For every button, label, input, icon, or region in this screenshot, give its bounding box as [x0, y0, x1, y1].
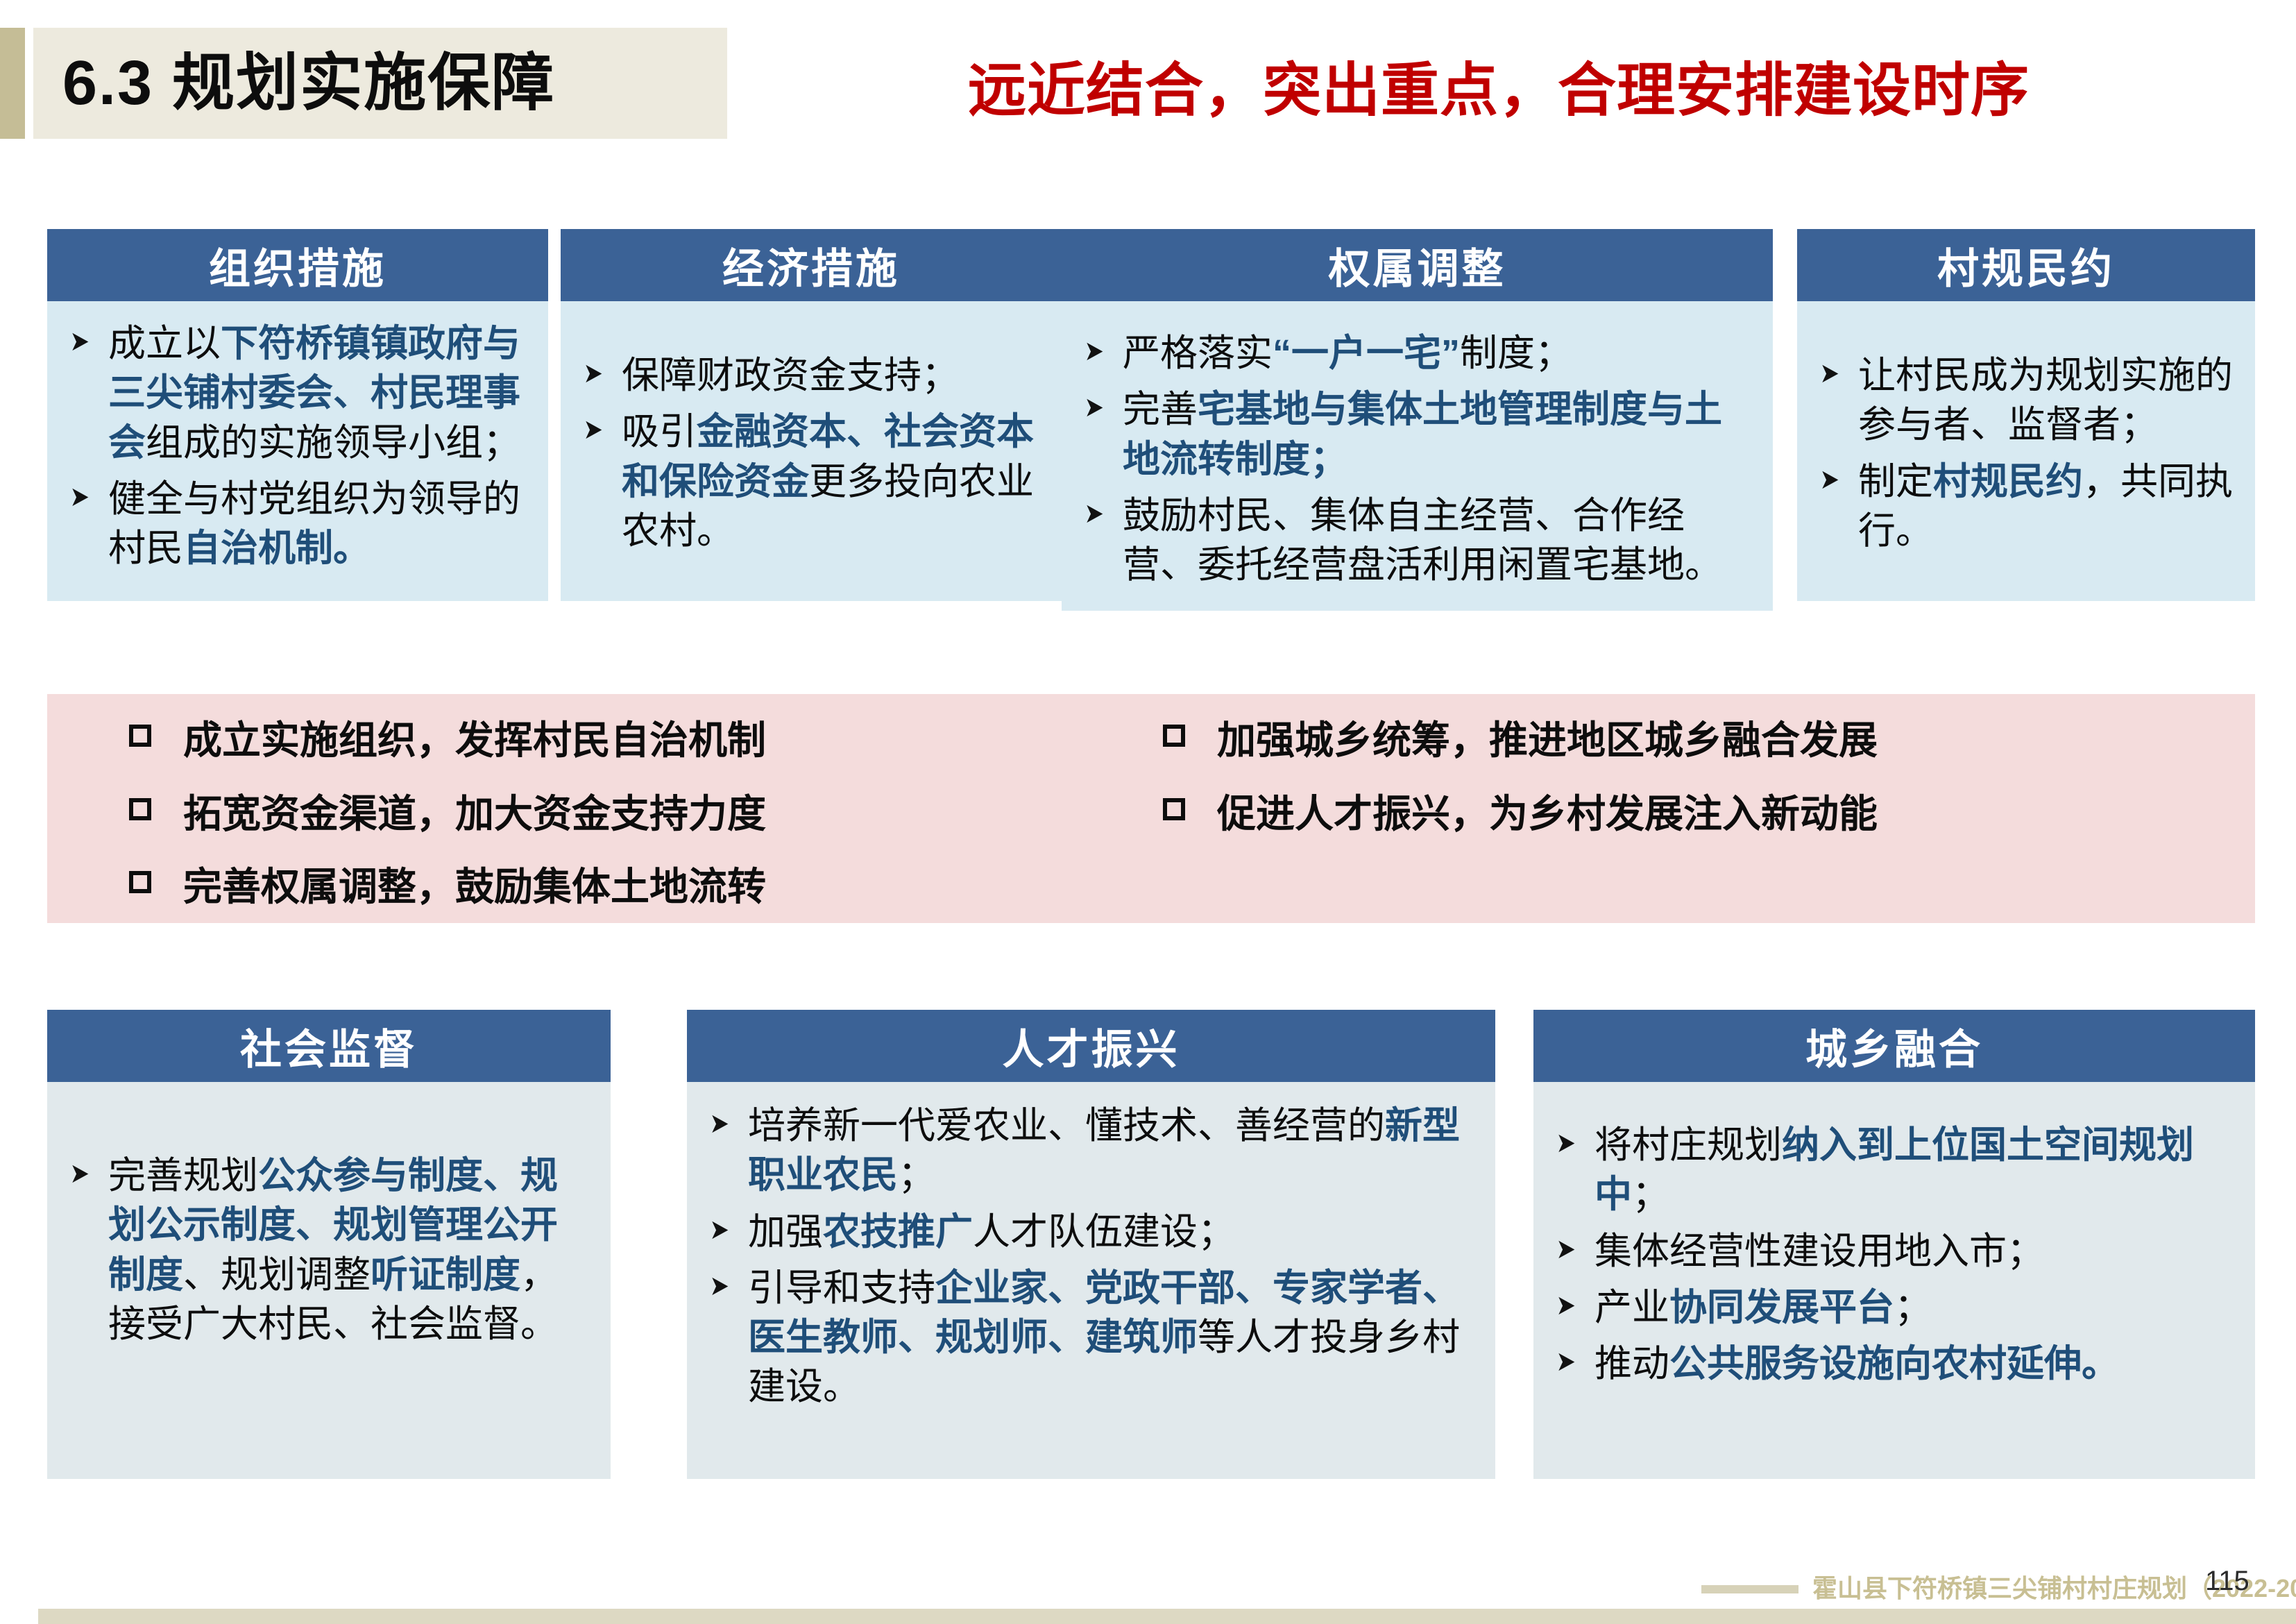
body-text: ； [1632, 1174, 1669, 1215]
summary-item: 促进人才振兴，为乡村发展注入新动能 [1150, 793, 2233, 836]
highlighted-text: 村规民约 [1933, 461, 2083, 502]
bullet-item: 制定村规民约，共同执行。 [1814, 457, 2234, 557]
slide-headline: 远近结合，突出重点，合理安排建设时序 [902, 33, 2095, 137]
card-body: 成立以下符桥镇镇政府与三尖铺村委会、村民理事会组成的实施领导小组；健全与村党组织… [47, 301, 548, 601]
summary-left-column: 成立实施组织，发挥村民自治机制拓宽资金渠道，加大资金支持力度完善权属调整，鼓励集… [117, 719, 1143, 939]
card-title: 权属调整 [1062, 229, 1773, 301]
bullet-item: 严格落实“一户一宅”制度； [1078, 329, 1752, 378]
summary-item: 拓宽资金渠道，加大资金支持力度 [117, 793, 1143, 836]
body-text: 严格落实 [1123, 332, 1273, 374]
bottom-accent-bar [38, 1609, 2296, 1624]
body-text: 完善 [1123, 389, 1198, 430]
bullet-list: 完善规划公众参与制度、规划公示制度、规划管理公开制度、规划调整听证制度，接受广大… [64, 1151, 590, 1349]
body-text: 集体经营性建设用地入市； [1595, 1230, 2044, 1272]
card-organizational-measures: 组织措施 成立以下符桥镇镇政府与三尖铺村委会、村民理事会组成的实施领导小组；健全… [47, 229, 548, 601]
highlighted-text: 协同发展平台 [1669, 1287, 1894, 1328]
card-title: 组织措施 [47, 229, 548, 301]
body-text: 引导和支持 [748, 1267, 935, 1309]
bullet-list: 让村民成为规划实施的参与者、监督者；制定村规民约，共同执行。 [1814, 351, 2234, 556]
slide-header: 6.3 规划实施保障 远近结合，突出重点，合理安排建设时序 [0, 0, 2296, 153]
card-talent-revitalization: 人才振兴 培养新一代爱农业、懂技术、善经营的新型职业农民；加强农技推广人才队伍建… [687, 1010, 1495, 1479]
card-title: 人才振兴 [687, 1010, 1495, 1082]
body-text: 完善规划 [108, 1155, 258, 1196]
bullet-list: 成立以下符桥镇镇政府与三尖铺村委会、村民理事会组成的实施领导小组；健全与村党组织… [64, 319, 527, 573]
card-title: 村规民约 [1797, 229, 2255, 301]
body-text: 培养新一代爱农业、懂技术、善经营的 [748, 1105, 1385, 1147]
bullet-item: 集体经营性建设用地入市； [1550, 1227, 2234, 1276]
body-text: 、规划调整 [183, 1254, 371, 1296]
bullet-item: 引导和支持企业家、党政干部、专家学者、医生教师、规划师、建筑师等人才投身乡村建设… [704, 1264, 1474, 1412]
body-text: 鼓励村民、集体自主经营、合作经营、委托经营盘活利用闲置宅基地。 [1123, 495, 1722, 586]
body-text: 推动 [1595, 1343, 1669, 1385]
highlighted-text: 自治机制。 [183, 527, 371, 569]
highlighted-text: 听证制度 [371, 1254, 520, 1296]
body-text: 将村庄规划 [1595, 1124, 1782, 1166]
body-text: 制定 [1858, 461, 1933, 502]
card-title: 社会监督 [47, 1010, 611, 1082]
card-body: 完善规划公众参与制度、规划公示制度、规划管理公开制度、规划调整听证制度，接受广大… [47, 1082, 611, 1479]
body-text: 人才队伍建设； [973, 1211, 1235, 1253]
bullet-item: 加强农技推广人才队伍建设； [704, 1208, 1474, 1257]
body-text: 加强 [748, 1211, 823, 1253]
footer-page-number: 115 [2205, 1566, 2250, 1597]
bullet-item: 产业协同发展平台； [1550, 1283, 2234, 1333]
page-title: 6.3 规划实施保障 [33, 52, 555, 115]
highlighted-text: 宅基地与集体土地管理制度与土地流转制度； [1123, 389, 1722, 480]
body-text: ； [898, 1154, 935, 1196]
card-body: 培养新一代爱农业、懂技术、善经营的新型职业农民；加强农技推广人才队伍建设；引导和… [687, 1082, 1495, 1479]
card-title: 经济措施 [561, 229, 1062, 301]
bullet-item: 健全与村党组织为领导的村民自治机制。 [64, 475, 527, 574]
summary-item: 加强城乡统筹，推进地区城乡融合发展 [1150, 719, 2233, 762]
body-text: 吸引 [622, 411, 697, 452]
card-social-supervision: 社会监督 完善规划公众参与制度、规划公示制度、规划管理公开制度、规划调整听证制度… [47, 1010, 611, 1479]
bullet-item: 完善规划公众参与制度、规划公示制度、规划管理公开制度、规划调整听证制度，接受广大… [64, 1151, 590, 1349]
bullet-item: 推动公共服务设施向农村延伸。 [1550, 1339, 2234, 1389]
bullet-item: 保障财政资金支持； [577, 351, 1041, 400]
summary-item: 成立实施组织，发挥村民自治机制 [117, 719, 1143, 762]
bullet-list: 将村庄规划纳入到上位国土空间规划中；集体经营性建设用地入市；产业协同发展平台；推… [1550, 1121, 2234, 1389]
body-text: 产业 [1595, 1287, 1669, 1328]
card-body: 严格落实“一户一宅”制度；完善宅基地与集体土地管理制度与土地流转制度；鼓励村民、… [1062, 301, 1773, 611]
card-body: 保障财政资金支持；吸引金融资本、社会资本和保险资金更多投向农业农村。 [561, 301, 1062, 601]
card-ownership-adjustment: 权属调整 严格落实“一户一宅”制度；完善宅基地与集体土地管理制度与土地流转制度；… [1062, 229, 1773, 611]
card-urban-rural-integration: 城乡融合 将村庄规划纳入到上位国土空间规划中；集体经营性建设用地入市；产业协同发… [1533, 1010, 2255, 1479]
summary-right-column: 加强城乡统筹，推进地区城乡融合发展促进人才振兴，为乡村发展注入新动能 [1150, 719, 2233, 865]
bullet-item: 将村庄规划纳入到上位国土空间规划中； [1550, 1121, 2234, 1220]
body-text: 组成的实施领导小组； [146, 422, 520, 464]
bullet-item: 鼓励村民、集体自主经营、合作经营、委托经营盘活利用闲置宅基地。 [1078, 491, 1752, 591]
summary-list-right: 加强城乡统筹，推进地区城乡融合发展促进人才振兴，为乡村发展注入新动能 [1150, 719, 2233, 835]
card-body: 将村庄规划纳入到上位国土空间规划中；集体经营性建设用地入市；产业协同发展平台；推… [1533, 1082, 2255, 1479]
body-text: 制度； [1460, 332, 1572, 374]
highlighted-text: “一户一宅” [1273, 332, 1460, 374]
title-accent-bar [0, 28, 25, 139]
bullet-list: 培养新一代爱农业、懂技术、善经营的新型职业农民；加强农技推广人才队伍建设；引导和… [704, 1101, 1474, 1412]
section-title-box: 6.3 规划实施保障 [33, 28, 727, 139]
bullet-item: 让村民成为规划实施的参与者、监督者； [1814, 351, 2234, 450]
body-text: 保障财政资金支持； [622, 355, 959, 396]
summary-banner: 成立实施组织，发挥村民自治机制拓宽资金渠道，加大资金支持力度完善权属调整，鼓励集… [47, 694, 2255, 923]
card-body: 让村民成为规划实施的参与者、监督者；制定村规民约，共同执行。 [1797, 301, 2255, 601]
summary-list-left: 成立实施组织，发挥村民自治机制拓宽资金渠道，加大资金支持力度完善权属调整，鼓励集… [117, 719, 1143, 908]
bullet-item: 成立以下符桥镇镇政府与三尖铺村委会、村民理事会组成的实施领导小组； [64, 319, 527, 468]
body-text: ； [1894, 1287, 1932, 1328]
bullet-list: 保障财政资金支持；吸引金融资本、社会资本和保险资金更多投向农业农村。 [577, 351, 1041, 556]
highlighted-text: 农技推广 [823, 1211, 973, 1253]
body-text: 成立以 [108, 323, 221, 364]
footer-rule [1701, 1585, 1798, 1593]
bullet-item: 吸引金融资本、社会资本和保险资金更多投向农业农村。 [577, 407, 1041, 556]
highlighted-text: 公共服务设施向农村延伸。 [1669, 1343, 2119, 1385]
card-title: 城乡融合 [1533, 1010, 2255, 1082]
bullet-item: 完善宅基地与集体土地管理制度与土地流转制度； [1078, 385, 1752, 484]
bullet-list: 严格落实“一户一宅”制度；完善宅基地与集体土地管理制度与土地流转制度；鼓励村民、… [1078, 329, 1752, 590]
summary-item: 完善权属调整，鼓励集体土地流转 [117, 865, 1143, 908]
body-text: 让村民成为规划实施的参与者、监督者； [1858, 355, 2233, 446]
card-village-convention: 村规民约 让村民成为规划实施的参与者、监督者；制定村规民约，共同执行。 [1797, 229, 2255, 601]
card-economic-measures: 经济措施 保障财政资金支持；吸引金融资本、社会资本和保险资金更多投向农业农村。 [561, 229, 1062, 601]
bullet-item: 培养新一代爱农业、懂技术、善经营的新型职业农民； [704, 1101, 1474, 1201]
